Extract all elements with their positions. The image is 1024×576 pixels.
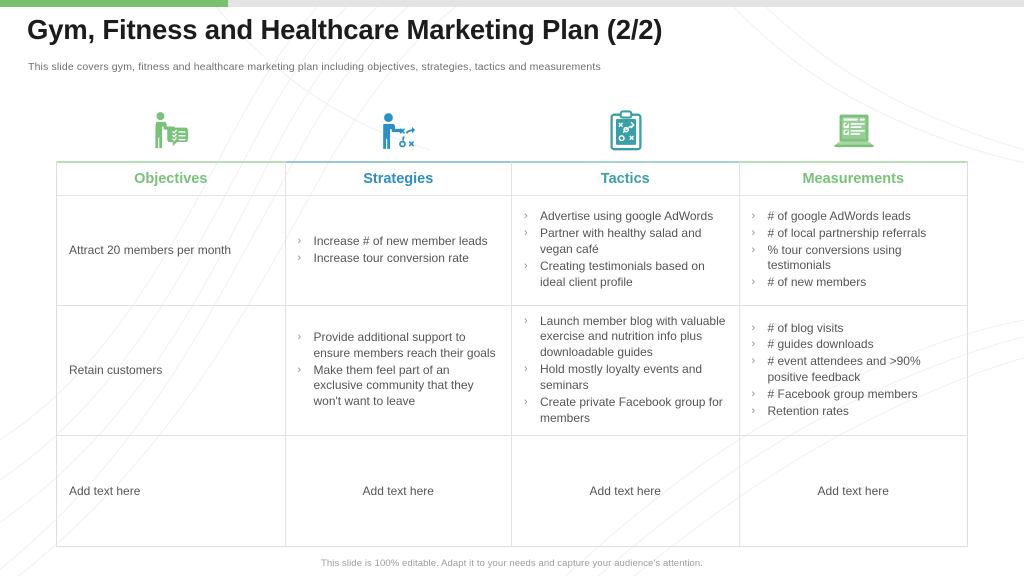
icon-cell-measurements bbox=[740, 104, 968, 158]
chevron-right-icon: › bbox=[524, 362, 528, 377]
bullet-list: ›Provide additional support to ensure me… bbox=[298, 330, 500, 411]
placeholder-text: Add text here bbox=[524, 483, 727, 499]
cell-measurements-row1: ›# of google AdWords leads ›# of local p… bbox=[740, 196, 968, 305]
list-item: ›Make them feel part of an exclusive com… bbox=[298, 363, 500, 410]
cell-strategies-row3[interactable]: Add text here bbox=[286, 436, 513, 546]
chevron-right-icon: › bbox=[524, 259, 528, 274]
bullet-list: ›Advertise using google AdWords ›Partner… bbox=[524, 209, 727, 291]
chevron-right-icon: › bbox=[752, 404, 756, 419]
chevron-right-icon: › bbox=[524, 314, 528, 329]
top-accent-bar-fill bbox=[0, 0, 228, 7]
page-subtitle: This slide covers gym, fitness and healt… bbox=[28, 61, 601, 73]
cell-objectives-row1: Attract 20 members per month bbox=[57, 196, 286, 305]
tactics-clipboard-icon bbox=[604, 108, 648, 154]
icon-cell-tactics bbox=[512, 104, 740, 158]
table-header-strategies-label: Strategies bbox=[363, 171, 433, 187]
table-row: Retain customers ›Provide additional sup… bbox=[57, 306, 967, 436]
chevron-right-icon: › bbox=[298, 363, 302, 378]
list-item: ›# Facebook group members bbox=[752, 387, 956, 403]
measurements-laptop-icon bbox=[829, 109, 879, 153]
chevron-right-icon: › bbox=[752, 209, 756, 224]
list-item: ›# of local partnership referrals bbox=[752, 226, 956, 242]
chevron-right-icon: › bbox=[298, 234, 302, 249]
slide-footnote: This slide is 100% editable. Adapt it to… bbox=[0, 558, 1024, 569]
table-row: Attract 20 members per month ›Increase #… bbox=[57, 196, 967, 306]
chevron-right-icon: › bbox=[752, 387, 756, 402]
list-item: ›Partner with healthy salad and vegan ca… bbox=[524, 226, 727, 258]
icon-cell-objectives bbox=[56, 104, 285, 158]
chevron-right-icon: › bbox=[752, 321, 756, 336]
cell-objectives-row3[interactable]: Add text here bbox=[57, 436, 286, 546]
table-header-measurements: Measurements bbox=[740, 161, 968, 196]
table-header-tactics: Tactics bbox=[512, 161, 740, 196]
list-item: ›Increase tour conversion rate bbox=[298, 251, 500, 267]
objective-text: Retain customers bbox=[69, 362, 273, 378]
bullet-list: ›# of blog visits ›# guides downloads ›#… bbox=[752, 321, 956, 421]
list-item: ›# event attendees and >90% positive fee… bbox=[752, 354, 956, 386]
table-row: Add text here Add text here Add text her… bbox=[57, 436, 967, 546]
list-item: ›% tour conversions using testimonials bbox=[752, 243, 956, 275]
chevron-right-icon: › bbox=[524, 209, 528, 224]
chevron-right-icon: › bbox=[524, 395, 528, 410]
chevron-right-icon: › bbox=[752, 354, 756, 369]
slide-root: Gym, Fitness and Healthcare Marketing Pl… bbox=[0, 0, 1024, 576]
placeholder-text: Add text here bbox=[69, 483, 273, 499]
list-item: ›Retention rates bbox=[752, 404, 956, 420]
cell-tactics-row1: ›Advertise using google AdWords ›Partner… bbox=[512, 196, 740, 305]
presenter-checklist-icon bbox=[148, 108, 194, 154]
list-item: ›Launch member blog with valuable exerci… bbox=[524, 314, 727, 361]
list-item: ›Provide additional support to ensure me… bbox=[298, 330, 500, 362]
top-accent-bar bbox=[0, 0, 1024, 7]
cell-measurements-row3[interactable]: Add text here bbox=[740, 436, 968, 546]
page-title: Gym, Fitness and Healthcare Marketing Pl… bbox=[27, 14, 662, 46]
cell-objectives-row2: Retain customers bbox=[57, 306, 286, 435]
chevron-right-icon: › bbox=[752, 243, 756, 258]
list-item: ›Increase # of new member leads bbox=[298, 234, 500, 250]
placeholder-text: Add text here bbox=[298, 483, 500, 499]
bullet-list: ›Increase # of new member leads ›Increas… bbox=[298, 234, 500, 268]
chevron-right-icon: › bbox=[752, 275, 756, 290]
list-item: ›# of blog visits bbox=[752, 321, 956, 337]
chevron-right-icon: › bbox=[524, 226, 528, 241]
cell-measurements-row2: ›# of blog visits ›# guides downloads ›#… bbox=[740, 306, 968, 435]
placeholder-text: Add text here bbox=[752, 483, 956, 499]
icon-row bbox=[56, 104, 968, 158]
cell-tactics-row2: ›Launch member blog with valuable exerci… bbox=[512, 306, 740, 435]
chevron-right-icon: › bbox=[298, 330, 302, 345]
table-header-measurements-label: Measurements bbox=[802, 171, 904, 187]
table-header-row: Objectives Strategies Tactics Measuremen… bbox=[57, 161, 967, 196]
table-header-objectives: Objectives bbox=[57, 161, 286, 196]
table-header-tactics-label: Tactics bbox=[601, 171, 650, 187]
table-header-objectives-label: Objectives bbox=[134, 171, 207, 187]
chevron-right-icon: › bbox=[298, 251, 302, 266]
list-item: ›# guides downloads bbox=[752, 337, 956, 353]
bullet-list: ›# of google AdWords leads ›# of local p… bbox=[752, 209, 956, 292]
table-header-strategies: Strategies bbox=[286, 161, 513, 196]
list-item: ›Create private Facebook group for membe… bbox=[524, 395, 727, 427]
list-item: ›Hold mostly loyalty events and seminars bbox=[524, 362, 727, 394]
icon-cell-strategies bbox=[285, 104, 512, 158]
chevron-right-icon: › bbox=[752, 226, 756, 241]
bullet-list: ›Launch member blog with valuable exerci… bbox=[524, 314, 727, 428]
cell-tactics-row3[interactable]: Add text here bbox=[512, 436, 740, 546]
marketing-plan-table: Objectives Strategies Tactics Measuremen… bbox=[56, 161, 968, 547]
list-item: ›# of google AdWords leads bbox=[752, 209, 956, 225]
objective-text: Attract 20 members per month bbox=[69, 242, 273, 258]
cell-strategies-row1: ›Increase # of new member leads ›Increas… bbox=[286, 196, 513, 305]
cell-strategies-row2: ›Provide additional support to ensure me… bbox=[286, 306, 513, 435]
chevron-right-icon: › bbox=[752, 337, 756, 352]
strategy-person-icon bbox=[376, 108, 422, 154]
list-item: ›Creating testimonials based on ideal cl… bbox=[524, 259, 727, 291]
list-item: ›Advertise using google AdWords bbox=[524, 209, 727, 225]
list-item: ›# of new members bbox=[752, 275, 956, 291]
